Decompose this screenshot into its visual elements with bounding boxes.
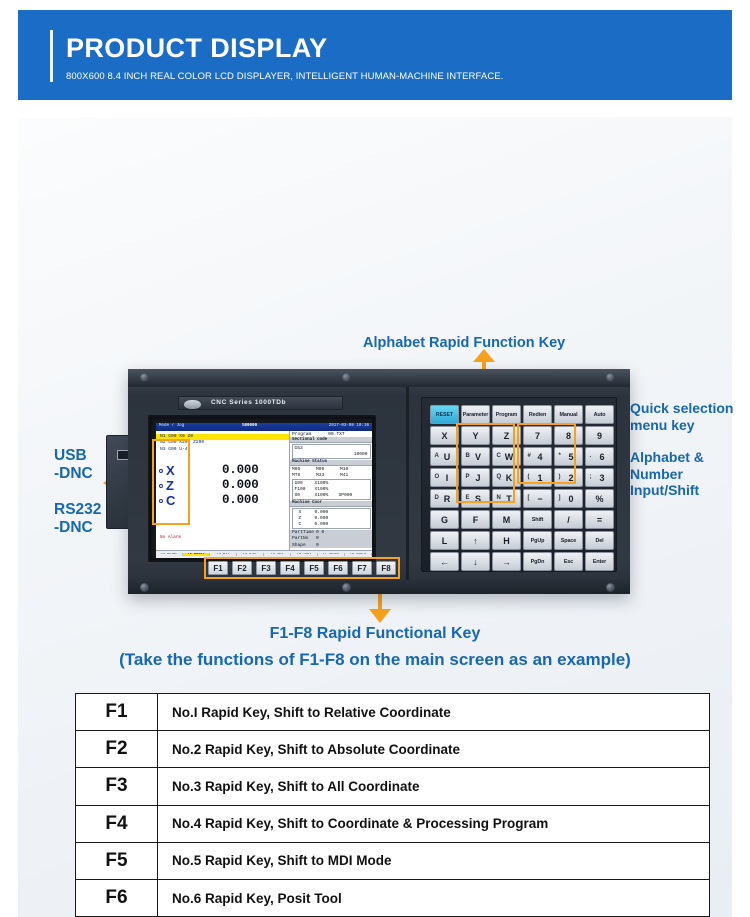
coord-label: X [295,510,315,515]
feed-code: F100 [295,487,315,492]
keypad-key-9[interactable]: 9 [585,426,614,445]
keypad-key--[interactable]: / [554,510,583,529]
lcd-percent-text: %00000 [242,424,257,428]
keypad-key--[interactable]: [− [523,489,552,508]
highlight-ports-region [152,439,190,525]
callout-rs232-dnc: RS232 -DNC [54,501,101,538]
keypad-key-program[interactable]: Program [492,405,521,424]
table-row: F5No.5 Rapid Key, Shift to MDI Mode [76,842,710,879]
axis-value: 0.000 [222,464,259,477]
callout-usb-dnc: USB -DNC [54,447,93,484]
counter-label: PartNo [292,536,316,541]
callout-alphabet-number: Alphabet & Number Input/Shift [630,449,750,499]
highlight-fkeys-region [204,557,400,579]
keypad-key-x[interactable]: X [430,426,459,445]
page-title: PRODUCT DISPLAY [66,35,328,62]
page-subtitle: 800X600 8.4 INCH REAL COLOR LCD DISPLAYE… [66,72,503,82]
coord-label: C [295,522,315,527]
lcd-datetime-text: 2017-03-08 10:36 [329,424,369,428]
table-cell-description: No.3 Rapid Key, Shift to All Coordinate [158,768,710,805]
page-header-banner: PRODUCT DISPLAY 800X600 8.4 INCH REAL CO… [18,10,732,100]
coord-value: 0.000 [315,510,329,515]
callout-quick-menu-line2: menu key [630,417,750,434]
lcd-feed-box: G00 X100% F100 X100% S0 [292,479,371,500]
keypad-key-6[interactable]: .6 [585,447,614,466]
arrow-to-alphabet-head-icon [473,349,495,362]
lcd-status-bar: Mode / Jog %00000 2017-03-08 10:36 [156,423,372,431]
axis-value: 0.000 [222,494,259,507]
keypad-key-h[interactable]: H [492,531,521,550]
keypad-key--[interactable]: ↑ [461,531,490,550]
callout-alphabet-rapid: Alphabet Rapid Function Key [363,335,565,352]
table-cell-key: F2 [76,731,158,768]
screw-icon [140,373,149,382]
screw-icon [140,583,149,592]
key-main-label: I [446,473,449,483]
key-prefix-glyph: ] [559,495,561,501]
key-prefix-glyph: O [435,474,440,480]
callout-alnum-line2: Number [630,466,750,483]
caption-f1-f8-note: (Take the functions of F1-F8 on the main… [18,650,732,670]
keypad-key-esc[interactable]: Esc [554,552,583,571]
counter-value: 0 0 [316,530,324,535]
table-row: F1No.I Rapid Key, Shift to Relative Coor… [76,694,710,731]
lcd-coord-row: C 0.000 [293,521,370,527]
lcd-sectional-head: Sectional code [290,437,372,443]
table-row: F2No.2 Rapid Key, Shift to Absolute Coor… [76,731,710,768]
feed-pct: X100% [315,487,339,492]
header-accent-bar [50,30,53,82]
table-cell-key: F5 [76,842,158,879]
table-cell-description: No.I Rapid Key, Shift to Relative Coordi… [158,694,710,731]
coord-value: 0.000 [315,516,329,521]
feed-pct: X100% [315,493,339,498]
keypad-key-space[interactable]: Space [554,531,583,550]
callout-quick-menu-line1: Quick selection [630,400,750,417]
feed-pct: X100% [315,481,339,486]
lcd-softkey[interactable]: F5 MDI [264,553,291,556]
table-row: F4No.4 Rapid Key, Shift to Coordinate & … [76,805,710,842]
lcd-softkey[interactable]: F4 STEP [237,553,264,556]
lcd-coord-box: X 0.000 Z 0.000 C 0.000 [292,508,371,529]
product-photo-panel: Alphabet Rapid Function Key Quick select… [18,117,732,917]
lcd-softkey[interactable]: F3 All [210,553,237,556]
table-cell-description: No.4 Rapid Key, Shift to Coordinate & Pr… [158,805,710,842]
keypad-key-parameter[interactable]: Parameter [461,405,490,424]
callout-usb-line1: USB [54,447,93,465]
lcd-right-pane: Program 00.TXT Sectional code G53 10000 … [290,431,372,550]
status-code: MT8 [292,473,316,478]
product-display-page: PRODUCT DISPLAY 800X600 8.4 INCH REAL CO… [0,0,750,917]
keypad-key-reset[interactable]: RESET [430,405,459,424]
status-code: M05 [292,467,316,472]
lcd-alarm-text: No Alarm [160,535,181,540]
table-cell-key: F6 [76,879,158,916]
coord-label: Z [295,516,315,521]
keypad-key-shift[interactable]: Shift [523,510,552,529]
keypad-key--[interactable]: % [585,489,614,508]
feed-code: S0 [295,493,315,498]
table-cell-description: No.2 Rapid Key, Shift to Absolute Coordi… [158,731,710,768]
feed-extra: SP000 [339,493,353,498]
device-brand-plate: CNC Series 1000TDb [178,396,343,410]
lcd-sectional-box: G53 10000 [292,444,371,458]
feed-code: G00 [295,481,315,486]
callout-alnum-line1: Alphabet & [630,449,750,466]
counter-label: PartTime [292,530,316,535]
device-bottom-rail [128,580,630,594]
lcd-softkey[interactable]: F2 Absol [183,553,210,556]
keypad-key-0[interactable]: ]0 [554,489,583,508]
lcd-mode-text: Mode / Jog [159,424,184,428]
status-code: M41 [340,473,364,478]
lcd-feed-row: S0 X100% SP000 [293,493,370,499]
callout-rs232-line2: -DNC [54,519,101,537]
lcd-coord-head: Machine Coor [290,501,372,507]
keypad-key-3[interactable]: ;3 [585,468,614,487]
keypad-key-g[interactable]: G [430,510,459,529]
keypad-key--[interactable]: ← [430,552,459,571]
screw-icon [606,583,615,592]
keypad-key-del[interactable]: Del [585,531,614,550]
key-main-label: − [537,494,542,504]
screw-icon [342,373,351,382]
highlight-number-region [517,423,576,484]
keypad-key-m[interactable]: M [492,510,521,529]
lcd-softkey[interactable]: F8 Coord [345,553,372,556]
counter-label: Shape [292,543,316,548]
table-cell-key: F1 [76,694,158,731]
key-prefix-glyph: [ [528,495,530,501]
brand-logo-icon [184,400,201,409]
screw-icon [606,373,615,382]
function-key-table: F1No.I Rapid Key, Shift to Relative Coor… [75,693,710,917]
keypad-key-pgup[interactable]: PgUp [523,531,552,550]
keypad-key-redien[interactable]: Redien [523,405,552,424]
screw-icon [342,583,351,592]
lcd-status-row: M05 M09 M10 [290,466,372,472]
key-prefix-glyph: . [590,453,592,459]
table-cell-key: F3 [76,768,158,805]
brand-model-text: CNC Series 1000TDb [211,399,286,406]
lcd-sectional-value: 10000 [293,452,370,458]
keypad-key-l[interactable]: L [430,531,459,550]
status-code: M33 [316,473,340,478]
callout-rs232-line1: RS232 [54,501,101,519]
key-main-label: U [444,452,451,462]
key-main-label: 3 [599,473,604,483]
callout-usb-line2: -DNC [54,465,93,483]
lcd-program-label: Program [292,432,311,437]
status-code: M10 [340,467,364,472]
counter-value: 0 [316,536,319,541]
keypad-key-r[interactable]: DR [430,489,459,508]
arrow-to-fkeys-head-icon [369,609,391,623]
status-code: M09 [316,467,340,472]
keypad-key-u[interactable]: AU [430,447,459,466]
lcd-softkey[interactable]: F1 Relat [156,553,183,556]
table-row: F6No.6 Rapid Key, Posit Tool [76,879,710,916]
callout-alnum-line3: Input/Shift [630,482,750,499]
callout-quick-menu: Quick selection menu key [630,400,750,433]
table-row: F3No.3 Rapid Key, Shift to All Coordinat… [76,768,710,805]
keypad-key-i[interactable]: OI [430,468,459,487]
table-cell-description: No.5 Rapid Key, Shift to MDI Mode [158,842,710,879]
lcd-counter-row: Shape 0 [290,542,372,548]
axis-value: 0.000 [222,479,259,492]
lcd-program-value: 00.TXT [328,432,345,437]
keypad-key-auto[interactable]: Auto [585,405,614,424]
key-prefix-glyph: ; [590,474,592,480]
key-main-label: 6 [599,452,604,462]
caption-f1-f8-title: F1-F8 Rapid Functional Key [18,625,732,643]
device-top-rail [128,369,630,387]
key-prefix-glyph: A [435,453,439,459]
keypad-key--[interactable]: → [492,552,521,571]
coord-value: 0.000 [315,522,329,527]
table-cell-key: F4 [76,805,158,842]
table-cell-description: No.6 Rapid Key, Posit Tool [158,879,710,916]
keypad-key-pgdn[interactable]: PgDn [523,552,552,571]
keypad-key-f[interactable]: F [461,510,490,529]
keypad-key--[interactable]: = [585,510,614,529]
key-main-label: 0 [568,494,573,504]
lcd-softkey[interactable]: F7 SetZe [318,553,345,556]
keypad-key-manual[interactable]: Manual [554,405,583,424]
keypad-key--[interactable]: ↓ [461,552,490,571]
key-main-label: R [444,494,451,504]
highlight-alphabet-region [456,423,515,503]
lcd-status-row: MT8 M33 M41 [290,472,372,478]
lcd-softkey[interactable]: F6 Tool [291,553,318,556]
keypad-key-enter[interactable]: Enter [585,552,614,571]
key-prefix-glyph: D [435,495,439,501]
counter-value: 0 [316,543,319,548]
